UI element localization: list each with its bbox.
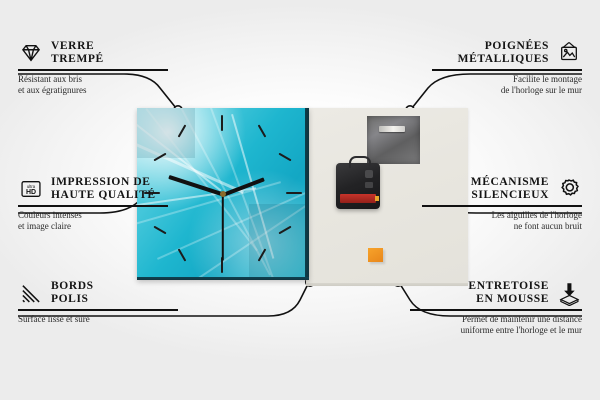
callout-title: ENTRETOISE EN MOUSSE: [468, 280, 549, 306]
gear-icon: [556, 176, 582, 202]
hanger-slot: [379, 126, 405, 132]
callout-poignees-metalliques: POIGNÉES MÉTALLIQUES Facilite le montage…: [432, 40, 582, 96]
callout-title: IMPRESSION DE HAUTE QUALITÉ: [51, 176, 156, 202]
callout-title: MÉCANISME SILENCIEUX: [471, 176, 549, 202]
callout-subtitle: Résistant aux bris et aux égratignures: [18, 74, 168, 96]
callout-subtitle: Surface lisse et sûre: [18, 314, 178, 325]
callout-title: POIGNÉES MÉTALLIQUES: [458, 40, 549, 66]
second-hand: [222, 195, 224, 261]
callout-title: BORDS POLIS: [51, 280, 94, 306]
mechanism-knob-secondary: [365, 182, 373, 188]
tick-1: [258, 124, 267, 137]
clock-mechanism-box: [336, 163, 380, 209]
tick-3: [286, 192, 302, 194]
callout-mecanisme-silencieux: MÉCANISME SILENCIEUX Les aiguilles de l'…: [422, 176, 582, 232]
callout-bords-polis: BORDS POLIS Surface lisse et sûre: [18, 280, 178, 325]
diamond-icon: [18, 40, 44, 66]
callout-entretoise-en-mousse: ENTRETOISE EN MOUSSE Permet de maintenir…: [410, 280, 582, 336]
battery: [340, 194, 376, 203]
callout-verre-trempe: VERRE TREMPÉ Résistant aux bris et aux é…: [18, 40, 168, 96]
callout-header: ultra HD IMPRESSION DE HAUTE QUALITÉ: [18, 176, 168, 202]
callout-subtitle: Permet de maintenir une distance uniform…: [410, 314, 582, 336]
arrow-onto-stack-icon: [556, 280, 582, 306]
product-image: [137, 108, 468, 283]
clock-right-edge: [305, 108, 309, 280]
callout-rule: [18, 69, 168, 71]
callout-rule: [410, 309, 582, 311]
callout-subtitle: Couleurs intenses et image claire: [18, 210, 168, 232]
tick-2: [278, 153, 291, 162]
callout-header: ENTRETOISE EN MOUSSE: [410, 280, 582, 306]
callout-rule: [422, 205, 582, 207]
mechanism-knob: [365, 170, 373, 178]
callout-subtitle: Les aiguilles de l'horloge ne font aucun…: [422, 210, 582, 232]
mechanism-loop: [349, 156, 371, 168]
tick-7: [178, 248, 187, 261]
infographic-canvas: VERRE TREMPÉ Résistant aux bris et aux é…: [0, 0, 600, 400]
callout-header: MÉCANISME SILENCIEUX: [422, 176, 582, 202]
hands-center-cap: [220, 191, 226, 197]
svg-text:ultra: ultra: [27, 184, 36, 189]
metal-hanger: [367, 116, 420, 164]
callout-title: VERRE TREMPÉ: [51, 40, 104, 66]
callout-header: POIGNÉES MÉTALLIQUES: [432, 40, 582, 66]
callout-subtitle: Facilite le montage de l'horloge sur le …: [432, 74, 582, 96]
tick-12: [221, 115, 223, 131]
orange-foam-spacer: [368, 248, 383, 262]
callout-header: BORDS POLIS: [18, 280, 178, 306]
callout-rule: [18, 205, 168, 207]
picture-frame-hanger-icon: [556, 40, 582, 66]
svg-text:HD: HD: [26, 189, 36, 196]
callout-impression-haute-qualite: ultra HD IMPRESSION DE HAUTE QUALITÉ Cou…: [18, 176, 168, 232]
polished-edge-icon: [18, 280, 44, 306]
callout-header: VERRE TREMPÉ: [18, 40, 168, 66]
ultra-hd-icon: ultra HD: [18, 176, 44, 202]
callout-rule: [18, 309, 178, 311]
callout-rule: [432, 69, 582, 71]
